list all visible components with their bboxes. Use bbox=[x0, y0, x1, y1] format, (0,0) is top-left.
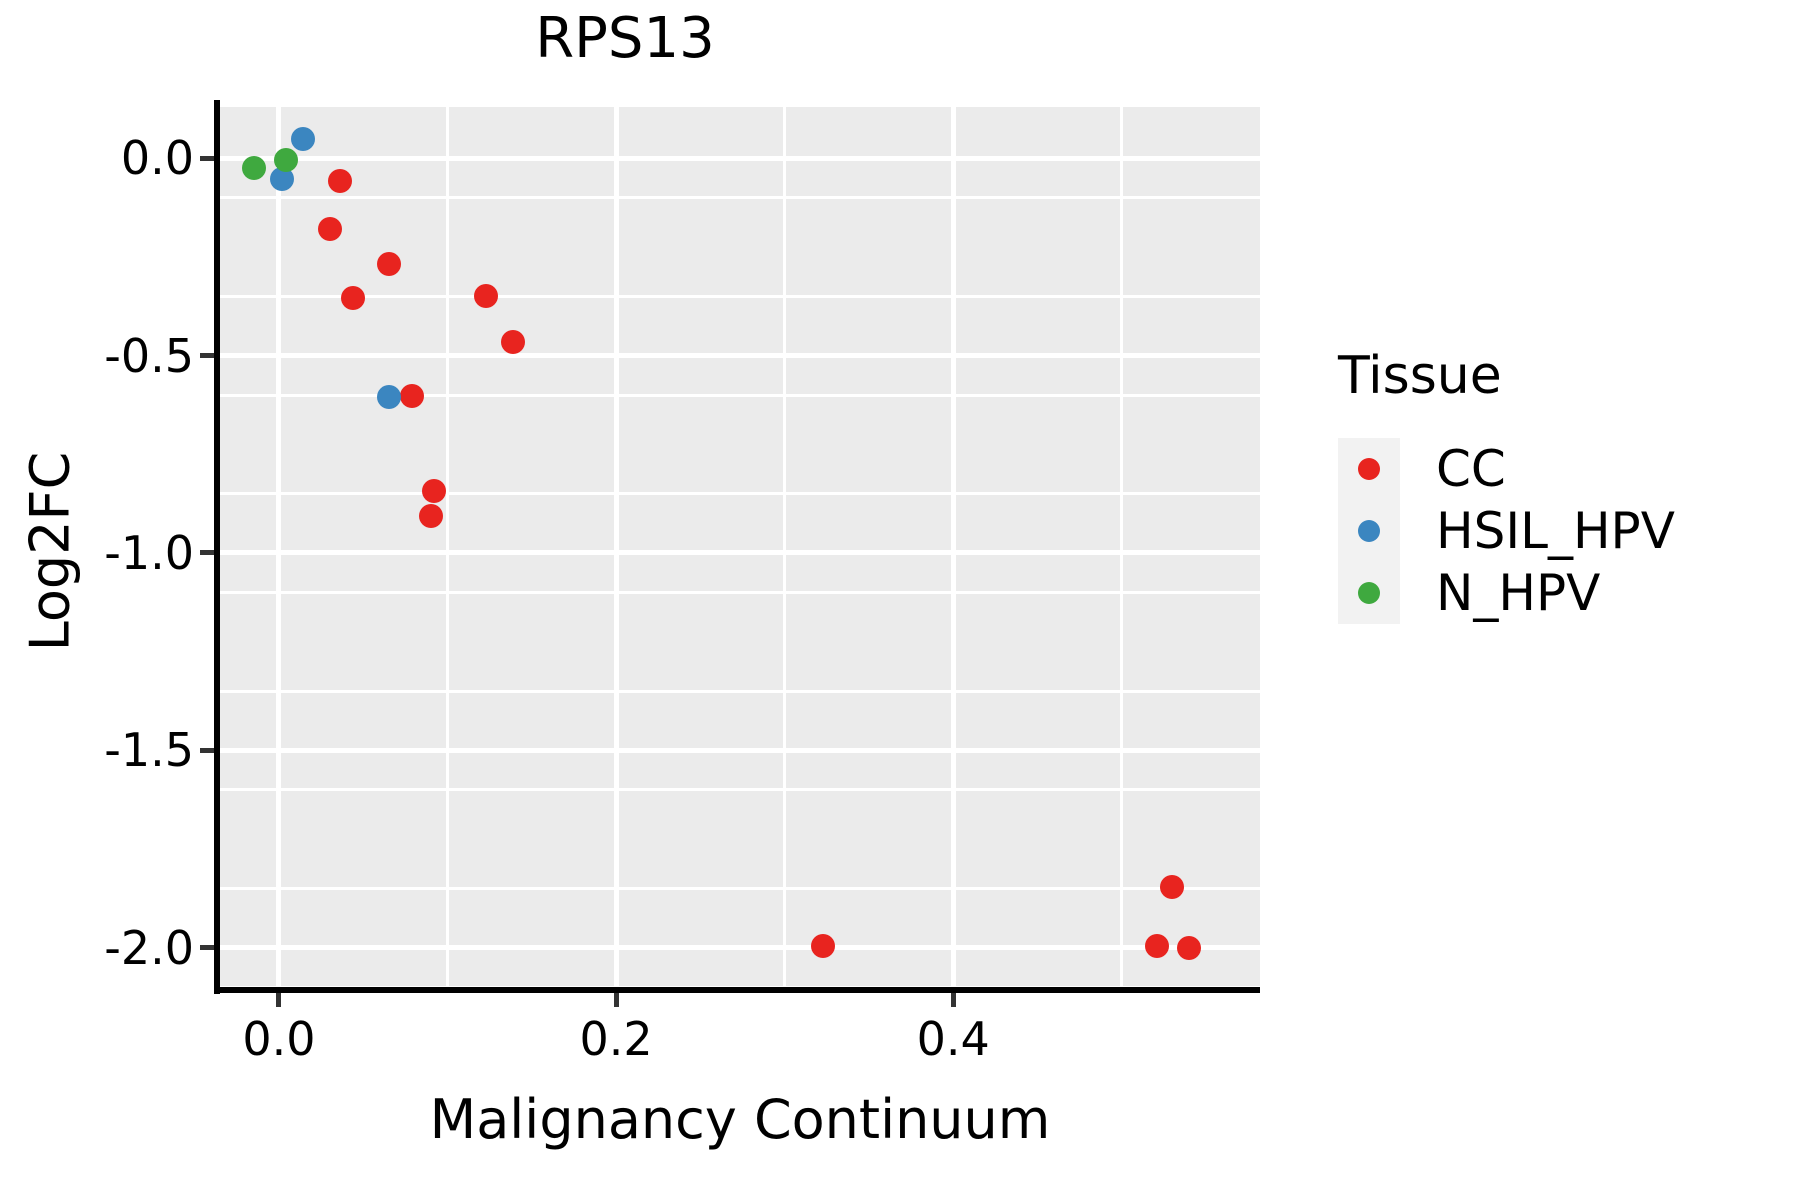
data-point bbox=[1145, 934, 1169, 958]
legend-item-cc[interactable]: CC bbox=[1338, 438, 1778, 500]
y-tick-label-1: -0.5 bbox=[104, 329, 194, 383]
y-tick-3 bbox=[200, 748, 214, 753]
gridline-h--0.35 bbox=[220, 295, 1260, 298]
data-point bbox=[274, 148, 298, 172]
data-point bbox=[328, 169, 352, 193]
gridline-v-0 bbox=[276, 107, 281, 987]
data-point bbox=[422, 479, 446, 503]
y-tick-4 bbox=[200, 945, 214, 950]
legend-title: Tissue bbox=[1338, 350, 1778, 402]
y-tick-label-4: -2.0 bbox=[104, 921, 194, 975]
scatter-plot-figure: RPS13 Malignancy Continuum Log2FC Tissue… bbox=[0, 0, 1800, 1200]
y-axis-line bbox=[214, 100, 220, 994]
y-tick-1 bbox=[200, 353, 214, 358]
gridline-v-0.5 bbox=[1120, 107, 1123, 987]
legend-item-label: HSIL_HPV bbox=[1436, 506, 1675, 556]
gridline-h--1.1 bbox=[220, 591, 1260, 594]
x-tick-label-2: 0.4 bbox=[917, 1012, 990, 1066]
legend-item-hsil-hpv[interactable]: HSIL_HPV bbox=[1338, 500, 1778, 562]
data-point bbox=[318, 217, 342, 241]
legend-items: CCHSIL_HPVN_HPV bbox=[1338, 438, 1778, 624]
legend-item-n-hpv[interactable]: N_HPV bbox=[1338, 562, 1778, 624]
legend-dot-icon bbox=[1358, 520, 1380, 542]
data-point bbox=[419, 504, 443, 528]
gridline-h--1.85 bbox=[220, 887, 1260, 890]
data-point bbox=[400, 384, 424, 408]
gridline-h--1.5 bbox=[220, 748, 1260, 753]
x-axis-label: Malignancy Continuum bbox=[220, 1088, 1260, 1151]
data-point bbox=[811, 934, 835, 958]
gridline-h--1 bbox=[220, 550, 1260, 555]
gridline-h--0.1 bbox=[220, 196, 1260, 199]
x-tick-1 bbox=[614, 993, 619, 1007]
data-point bbox=[377, 252, 401, 276]
gridline-v-0.3 bbox=[783, 107, 786, 987]
gridline-h--2 bbox=[220, 945, 1260, 950]
gridline-v-0.4 bbox=[951, 107, 956, 987]
legend: Tissue CCHSIL_HPVN_HPV bbox=[1338, 350, 1778, 624]
gridline-h--0.85 bbox=[220, 492, 1260, 495]
page-title: RPS13 bbox=[0, 8, 1250, 70]
y-tick-label-0: 0.0 bbox=[121, 131, 194, 185]
data-point bbox=[242, 156, 266, 180]
data-point bbox=[501, 330, 525, 354]
legend-item-label: N_HPV bbox=[1436, 568, 1600, 618]
gridline-h--1.35 bbox=[220, 690, 1260, 693]
x-tick-label-0: 0.0 bbox=[242, 1012, 315, 1066]
legend-item-label: CC bbox=[1436, 444, 1506, 494]
x-tick-0 bbox=[276, 993, 281, 1007]
y-tick-0 bbox=[200, 156, 214, 161]
plot-panel bbox=[220, 107, 1260, 987]
x-tick-label-1: 0.2 bbox=[580, 1012, 653, 1066]
data-point bbox=[1177, 936, 1201, 960]
data-point bbox=[291, 127, 315, 151]
y-tick-label-2: -1.0 bbox=[104, 526, 194, 580]
data-point bbox=[474, 284, 498, 308]
legend-dot-icon bbox=[1358, 458, 1380, 480]
gridline-v-0.2 bbox=[614, 107, 619, 987]
data-point bbox=[377, 385, 401, 409]
legend-key-swatch bbox=[1338, 500, 1400, 562]
y-axis-label: Log2FC bbox=[19, 252, 82, 852]
x-tick-2 bbox=[951, 993, 956, 1007]
gridline-h--1.6 bbox=[220, 788, 1260, 791]
legend-key-swatch bbox=[1338, 562, 1400, 624]
gridline-h-0 bbox=[220, 156, 1260, 161]
data-point bbox=[1160, 875, 1184, 899]
x-axis-line bbox=[214, 987, 1260, 993]
legend-key-swatch bbox=[1338, 438, 1400, 500]
gridline-h--0.5 bbox=[220, 353, 1260, 358]
legend-dot-icon bbox=[1358, 582, 1380, 604]
gridline-v-0.1 bbox=[446, 107, 449, 987]
y-tick-2 bbox=[200, 550, 214, 555]
data-point bbox=[341, 286, 365, 310]
y-tick-label-3: -1.5 bbox=[104, 723, 194, 777]
